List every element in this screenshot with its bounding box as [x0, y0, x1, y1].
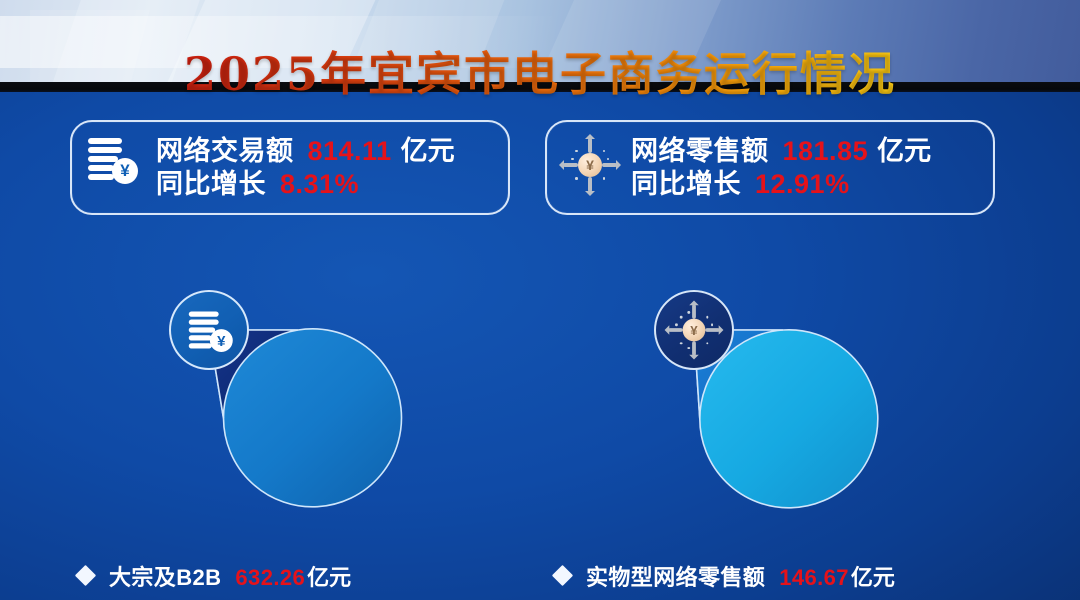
- legend-label: 大宗及B2B: [109, 560, 221, 592]
- stat-row-growth: 同比增长 8.31%: [156, 169, 455, 199]
- diamond-marker-icon: [75, 565, 96, 586]
- stat-row-amount: 网络零售额 181.85 亿元: [631, 136, 931, 166]
- legend-label: 实物型网络零售额: [586, 560, 765, 592]
- donut-chart-online-transaction: ¥: [118, 239, 318, 419]
- legend-item: 实物型网络零售额 146.67 亿元: [555, 560, 895, 592]
- stat-row-growth: 同比增长 12.91%: [631, 169, 931, 199]
- stat-label-growth: 同比增长: [631, 169, 741, 199]
- donut-hub-left: ¥: [169, 290, 249, 370]
- legend-item: 大宗及B2B 632.26 亿元: [78, 560, 351, 592]
- stat-label-growth: 同比增长: [156, 169, 266, 199]
- panel-online-retail: ¥ 网络零售额 181.85 亿元 同比增长 12.91%: [545, 120, 995, 419]
- stat-box-online-transaction: ¥ 网络交易额 814.11 亿元 同比增长 8.31%: [70, 120, 510, 215]
- stat-value-amount: 814.11: [308, 136, 392, 166]
- slide-root: 2025年宜宾市电子商务运行情况 ¥ 网络交易额 814.11 亿元: [0, 0, 1080, 600]
- stat-unit-amount: 亿元: [401, 136, 455, 166]
- coin-stack-yen-icon: ¥: [88, 138, 148, 198]
- stat-value-growth: 8.31%: [280, 169, 359, 199]
- donut-chart-online-retail: ¥: [603, 239, 803, 419]
- stat-unit-amount: 亿元: [877, 136, 931, 166]
- stat-value-growth: 12.91%: [755, 169, 850, 199]
- stat-row-amount: 网络交易额 814.11 亿元: [156, 136, 455, 166]
- compass-yen-icon: ¥: [668, 304, 719, 355]
- page-title: 2025年宜宾市电子商务运行情况: [0, 45, 1080, 103]
- legend-unit: 亿元: [851, 560, 895, 592]
- stat-label-amount: 网络零售额: [631, 136, 769, 166]
- stat-value-amount: 181.85: [783, 136, 869, 166]
- compass-yen-icon: ¥: [563, 138, 623, 198]
- stat-box-online-retail: ¥ 网络零售额 181.85 亿元 同比增长 12.91%: [545, 120, 995, 215]
- legend-online-transaction: 大宗及B2B 632.26 亿元 网络零售额 181.85 亿元: [78, 560, 351, 600]
- legend-value: 146.67: [779, 565, 849, 591]
- legend-unit: 亿元: [307, 560, 351, 592]
- diamond-marker-icon: [552, 565, 573, 586]
- coin-stack-yen-icon: ¥: [189, 312, 229, 349]
- legend-online-retail: 实物型网络零售额 146.67 亿元 服务型网络零售额 35.18 亿元: [555, 560, 895, 600]
- panel-online-transaction: ¥ 网络交易额 814.11 亿元 同比增长 8.31%: [70, 120, 520, 419]
- stat-label-amount: 网络交易额: [156, 136, 294, 166]
- donut-hub-right: ¥: [654, 290, 734, 370]
- legend-value: 632.26: [235, 565, 305, 591]
